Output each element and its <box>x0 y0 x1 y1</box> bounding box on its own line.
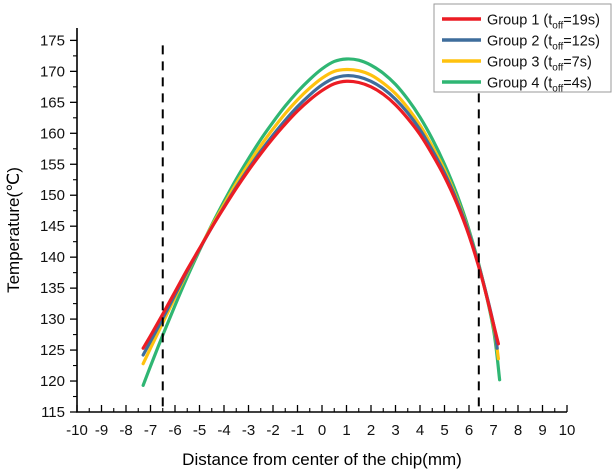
x-tick-label: 8 <box>514 422 522 439</box>
x-tick-label: -8 <box>119 422 132 439</box>
x-tick-label: -5 <box>193 422 206 439</box>
x-tick-label: 3 <box>391 422 399 439</box>
x-tick-label: 5 <box>440 422 448 439</box>
y-tick-label: 150 <box>40 187 65 204</box>
series-line-group-2 <box>143 76 497 355</box>
data-series-group <box>143 59 499 385</box>
x-tick-label: -10 <box>66 422 88 439</box>
x-tick-label: 6 <box>465 422 473 439</box>
y-tick-label: 125 <box>40 342 65 359</box>
series-line-group-1 <box>143 81 498 348</box>
x-axis-title: Distance from center of the chip(mm) <box>182 450 462 469</box>
x-tick-label: -6 <box>168 422 181 439</box>
y-tick-label: 175 <box>40 32 65 49</box>
y-tick-label: 155 <box>40 156 65 173</box>
series-line-group-4 <box>143 59 499 385</box>
x-tick-label: -2 <box>266 422 279 439</box>
x-tick-label: 10 <box>559 422 576 439</box>
legend[interactable]: Group 1 (toff=19s)Group 2 (toff=12s)Grou… <box>434 4 611 95</box>
tick-labels: 115120125130135140145150155160165170175-… <box>40 32 575 439</box>
x-tick-label: -7 <box>144 422 157 439</box>
chart-canvas: 115120125130135140145150155160165170175-… <box>0 0 615 472</box>
y-tick-label: 170 <box>40 63 65 80</box>
x-tick-label: -9 <box>95 422 108 439</box>
y-tick-label: 145 <box>40 218 65 235</box>
x-tick-label: -4 <box>217 422 230 439</box>
y-tick-label: 120 <box>40 373 65 390</box>
y-tick-label: 135 <box>40 280 65 297</box>
series-line-group-3 <box>143 69 498 363</box>
y-tick-label: 165 <box>40 94 65 111</box>
x-tick-label: 0 <box>318 422 326 439</box>
x-tick-label: 1 <box>342 422 350 439</box>
y-axis-title: Temperature(℃) <box>4 167 23 293</box>
x-tick-label: -3 <box>242 422 255 439</box>
y-tick-label: 160 <box>40 125 65 142</box>
temperature-profile-chart: 115120125130135140145150155160165170175-… <box>0 0 615 472</box>
x-tick-label: -1 <box>291 422 304 439</box>
x-tick-label: 2 <box>367 422 375 439</box>
y-tick-label: 140 <box>40 249 65 266</box>
x-tick-label: 7 <box>489 422 497 439</box>
x-tick-label: 4 <box>416 422 424 439</box>
y-tick-label: 115 <box>41 404 65 421</box>
y-tick-label: 130 <box>40 311 65 328</box>
x-tick-label: 9 <box>538 422 546 439</box>
